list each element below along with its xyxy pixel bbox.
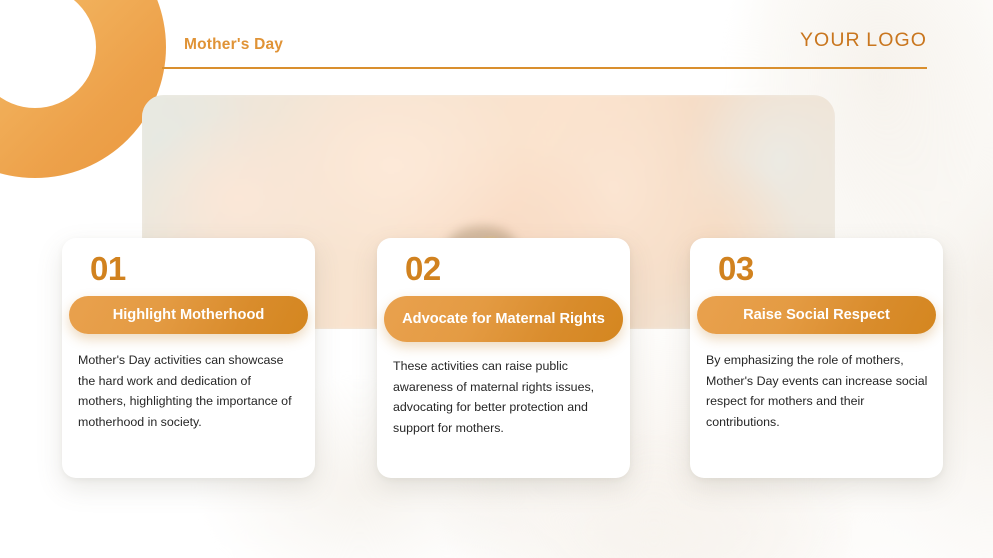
card-body-text: By emphasizing the role of mothers, Moth… — [706, 350, 929, 432]
info-card-03[interactable]: 03 Raise Social Respect By emphasizing t… — [690, 238, 943, 478]
card-body-text: Mother's Day activities can showcase the… — [78, 350, 301, 432]
info-card-01[interactable]: 01 Highlight Motherhood Mother's Day act… — [62, 238, 315, 478]
card-title-pill[interactable]: Highlight Motherhood — [69, 296, 308, 334]
page-title: Mother's Day — [184, 36, 283, 54]
logo: YOUR LOGO — [800, 29, 927, 52]
card-number: 01 — [90, 250, 126, 288]
card-title-pill[interactable]: Raise Social Respect — [697, 296, 936, 334]
cards-row: 01 Highlight Motherhood Mother's Day act… — [62, 238, 942, 478]
logo-primary-text: YOUR — [800, 29, 861, 51]
slide-header: Mother's Day YOUR LOGO — [162, 26, 927, 72]
header-divider — [162, 67, 927, 69]
info-card-02[interactable]: 02 Advocate for Maternal Rights These ac… — [377, 238, 630, 478]
card-title-pill[interactable]: Advocate for Maternal Rights — [384, 296, 623, 342]
slide-canvas: Mother's Day YOUR LOGO 01 Highlight Moth… — [0, 0, 993, 558]
card-body-text: These activities can raise public awaren… — [393, 356, 616, 438]
logo-secondary-text: LOGO — [866, 29, 927, 51]
card-number: 02 — [405, 250, 441, 288]
card-number: 03 — [718, 250, 754, 288]
